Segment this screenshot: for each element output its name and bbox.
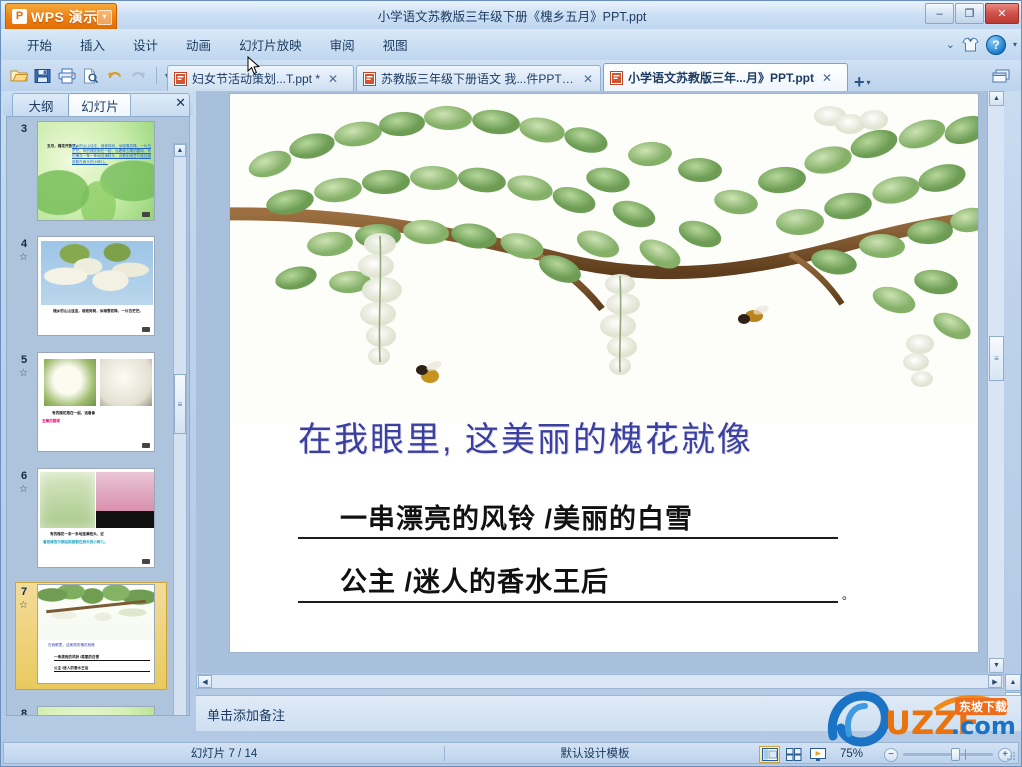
slide-trailing-mark: 。	[842, 586, 854, 603]
slide-number: 5	[21, 354, 27, 366]
tab-outline[interactable]: 大纲	[12, 93, 70, 117]
toolbar-divider	[156, 67, 157, 84]
animation-star-icon: ☆	[19, 252, 28, 263]
thumb-text: 有的槐花一条一条地挂满枝头，近	[50, 532, 148, 537]
current-slide[interactable]: 在我眼里, 这美丽的槐花就像 一串漂亮的风铃 /美丽的白雪 公主 /迷人的香水王…	[229, 93, 979, 653]
ppt-file-icon	[610, 71, 623, 85]
animation-star-icon: ☆	[19, 368, 28, 379]
previous-slide-button[interactable]: ▲	[1005, 674, 1021, 691]
slide-number: 6	[21, 470, 27, 482]
menu-bar: 开始 插入 设计 动画 幻灯片放映 审阅 视图 ⌄ ? ▾	[1, 29, 1022, 60]
slide-sorter-icon[interactable]	[783, 746, 804, 763]
list-item[interactable]: 4 ☆ 槐乡的山山洼洼，坡坡岗岗，似瑞雪初降，一片白茫茫。	[7, 232, 175, 347]
slide-body-line-2[interactable]: 公主 /迷人的香水王后	[340, 560, 609, 599]
animation-indicator-icon	[142, 559, 150, 564]
slide-thumbnail[interactable]: 有的槐花抱在一起，远看像 玉雕的圆球	[37, 352, 155, 452]
list-item[interactable]: 8 ☆ "嗡嗡嗡——"，小蜜蜂飞来了，采走了香的粉，酿出了甜的蜜。	[7, 702, 175, 716]
animation-indicator-icon	[142, 212, 150, 217]
menu-item-start[interactable]: 开始	[13, 31, 66, 58]
thumbnails-scroll-content: 3 五月，槐花开放了。 槐乡的山山洼洼，坡坡岗岗，似瑞雪初降，一片白茫茫。有的槐…	[7, 117, 175, 715]
slide-number: 7	[21, 586, 27, 598]
doc-tab-3-close-icon[interactable]: ✕	[819, 71, 832, 85]
scrollbar-thumb[interactable]: ≡	[989, 336, 1004, 381]
slide-thumbnail[interactable]: 五月，槐花开放了。 槐乡的山山洼洼，坡坡岗岗，似瑞雪初降，一片白茫茫。有的槐花抱…	[37, 121, 155, 221]
animation-star-icon: ☆	[19, 484, 28, 495]
animation-indicator-icon	[142, 443, 150, 448]
notes-pane[interactable]: 单击添加备注	[196, 695, 1022, 731]
open-document-tabs: 妇女节活动策划...T.ppt * ✕ 苏教版三年级下册语文 我...件PPT_…	[167, 62, 871, 91]
restore-window-icon[interactable]	[992, 68, 1014, 84]
slideshow-icon[interactable]	[807, 746, 828, 763]
redo-icon[interactable]	[129, 66, 148, 85]
doc-tab-2-close-icon[interactable]: ✕	[580, 72, 593, 86]
open-icon[interactable]	[9, 66, 28, 85]
list-item[interactable]: 7 ☆ 在我眼里，这美丽的槐花就像 一串漂亮的风铃 /美丽的白雪 公主 /迷人的…	[7, 580, 175, 695]
slide-number: 8	[21, 708, 27, 716]
thumb-text: 槐乡的山山洼洼，坡坡岗岗，似瑞雪初降，一片白茫茫。	[48, 309, 148, 314]
zoom-out-button[interactable]: −	[884, 748, 898, 762]
slide-number: 4	[21, 238, 27, 250]
slides-outline-panel: 大纲 幻灯片 ✕ 3 五月，槐花开放了。 槐乡的山山洼洼，坡坡岗岗，似瑞雪初降，…	[3, 91, 193, 736]
wps-presentation-window: P WPS 演示 ▾ 小学语文苏教版三年级下册《槐乡五月》PPT.ppt – ❐…	[0, 0, 1022, 767]
slide-background-image	[230, 94, 978, 424]
title-bar: P WPS 演示 ▾ 小学语文苏教版三年级下册《槐乡五月》PPT.ppt – ❐…	[1, 1, 1022, 29]
zoom-slider-track[interactable]	[903, 753, 993, 756]
ppt-file-icon	[363, 72, 376, 86]
slide-thumbnail-selected[interactable]: 在我眼里，这美丽的槐花就像 一串漂亮的风铃 /美丽的白雪 公主 /迷人的香水王后	[37, 584, 155, 684]
status-bar: 幻灯片 7 / 14 默认设计模板	[3, 742, 1019, 764]
mouse-cursor-icon	[247, 56, 260, 75]
thumb-text: 在我眼里，这美丽的槐花就像	[48, 643, 150, 648]
doc-tab-3-label: 小学语文苏教版三年...月》PPT.ppt	[628, 69, 814, 86]
minimize-button[interactable]: –	[925, 3, 954, 24]
normal-view-icon[interactable]	[759, 746, 780, 763]
thumb-text: 槐乡的山山洼洼，坡坡岗岗，似瑞雪初降，一片白茫茫。有的槐花抱在一起，远看像玉雕的…	[72, 144, 152, 165]
scroll-left-icon[interactable]: ◀	[198, 675, 212, 688]
list-item[interactable]: 3 五月，槐花开放了。 槐乡的山山洼洼，坡坡岗岗，似瑞雪初降，一片白茫茫。有的槐…	[7, 117, 175, 232]
quick-access-toolbar: ▾	[9, 63, 169, 88]
scroll-up-icon[interactable]: ▲	[989, 91, 1004, 106]
document-tab-bar: ▾ 妇女节活动策划...T.ppt * ✕	[1, 60, 1022, 91]
zoom-slider-handle[interactable]	[951, 748, 960, 761]
main-editing-area: 在我眼里, 这美丽的槐花就像 一串漂亮的风铃 /美丽的白雪 公主 /迷人的香水王…	[196, 91, 1022, 736]
thumb-text: 一串漂亮的风铃 /美丽的白雪	[54, 655, 150, 661]
print-icon[interactable]	[57, 66, 76, 85]
scroll-down-icon[interactable]: ▼	[989, 658, 1004, 673]
list-item[interactable]: 6 ☆ 有的槐花一条一条地挂满枝头，近 看如维吾尔族姑娘披散在肩头的小辫儿。	[7, 464, 175, 579]
acacia-branch-illustration	[230, 94, 978, 424]
panel-tab-strip: 大纲 幻灯片 ✕	[3, 91, 193, 116]
window-controls: – ❐ ✕	[925, 3, 1019, 24]
menu-item-insert[interactable]: 插入	[66, 31, 119, 58]
thumb-text: 看如维吾尔族姑娘披散在肩头的小辫儿。	[43, 540, 151, 545]
print-preview-icon[interactable]	[81, 66, 100, 85]
notes-placeholder: 单击添加备注	[207, 705, 285, 724]
slide-thumbnail[interactable]: "嗡嗡嗡——"，小蜜蜂飞来了，采走了香的粉，酿出了甜的蜜。	[37, 706, 155, 716]
doc-tab-2-label: 苏教版三年级下册语文 我...件PPT_3.ppt *	[381, 70, 575, 87]
menu-item-slideshow[interactable]: 幻灯片放映	[225, 31, 316, 58]
thumb-text: 公主 /迷人的香水王后	[54, 666, 150, 672]
maximize-button[interactable]: ❐	[955, 3, 984, 24]
shirt-skin-icon[interactable]	[962, 37, 979, 52]
doc-tab-2[interactable]: 苏教版三年级下册语文 我...件PPT_3.ppt * ✕	[356, 65, 601, 91]
thumb-text: 玉雕的圆球	[42, 419, 102, 424]
menu-item-view[interactable]: 视图	[369, 31, 422, 58]
underline-rule-1	[298, 537, 838, 539]
close-button[interactable]: ✕	[985, 3, 1019, 24]
undo-icon[interactable]	[105, 66, 124, 85]
scroll-up-icon[interactable]: ▲	[174, 144, 186, 157]
resize-grip-icon[interactable]	[1006, 751, 1016, 761]
animation-star-icon: ☆	[19, 600, 28, 611]
slide-counter: 幻灯片 7 / 14	[4, 745, 444, 761]
zoom-slider-control[interactable]: − +	[884, 747, 1012, 762]
save-icon[interactable]	[33, 66, 52, 85]
slide-thumbnail[interactable]: 有的槐花一条一条地挂满枝头，近 看如维吾尔族姑娘披散在肩头的小辫儿。	[37, 468, 155, 568]
slide-number: 3	[21, 123, 27, 135]
list-item[interactable]: 5 ☆ 有的槐花抱在一起，远看像 玉雕的圆球	[7, 348, 175, 463]
doc-tab-1[interactable]: 妇女节活动策划...T.ppt * ✕	[167, 65, 354, 91]
document-title: 小学语文苏教版三年级下册《槐乡五月》PPT.ppt	[1, 6, 1022, 25]
tab-slides[interactable]: 幻灯片	[68, 93, 132, 117]
scroll-right-icon[interactable]: ▶	[988, 675, 1002, 688]
menu-right-tools: ⌄ ? ▾	[946, 29, 1017, 60]
slide-title-text[interactable]: 在我眼里, 这美丽的槐花就像	[298, 412, 753, 461]
menu-item-review[interactable]: 审阅	[316, 31, 369, 58]
ppt-file-icon	[174, 72, 187, 86]
doc-tab-3[interactable]: 小学语文苏教版三年...月》PPT.ppt ✕	[603, 63, 848, 91]
chevron-down-icon[interactable]: ⌄	[946, 38, 955, 51]
menu-item-design[interactable]: 设计	[119, 31, 172, 58]
slide-thumbnail[interactable]: 槐乡的山山洼洼，坡坡岗岗，似瑞雪初降，一片白茫茫。	[37, 236, 155, 336]
new-tab-button[interactable]: +	[854, 75, 865, 89]
animation-indicator-icon	[142, 327, 150, 332]
doc-tab-1-close-icon[interactable]: ✕	[325, 72, 338, 86]
thumbnail-scrollbar[interactable]: ▲ ≡ ▼	[173, 143, 187, 716]
zoom-percentage: 75%	[840, 748, 863, 760]
design-template-label: 默认设计模板	[445, 745, 745, 761]
scrollbar-thumb[interactable]: ≡	[174, 374, 186, 434]
slide-thumbnail-list[interactable]: 3 五月，槐花开放了。 槐乡的山山洼洼，坡坡岗岗，似瑞雪初降，一片白茫茫。有的槐…	[6, 116, 190, 716]
underline-rule-2	[298, 601, 838, 603]
slide-canvas-area[interactable]: 在我眼里, 这美丽的槐花就像 一串漂亮的风铃 /美丽的白雪 公主 /迷人的香水王…	[196, 91, 1004, 673]
canvas-vertical-scrollbar[interactable]: ▲ ≡ ▼	[987, 91, 1004, 673]
menu-item-animation[interactable]: 动画	[172, 31, 225, 58]
thumb-text: 有的槐花抱在一起，远看像	[52, 411, 146, 416]
new-tab-dropdown-icon[interactable]: ▾	[867, 78, 871, 87]
menu-items: 开始 插入 设计 动画 幻灯片放映 审阅 视图	[13, 29, 422, 60]
zoom-slider-tick	[965, 749, 966, 760]
view-mode-buttons	[759, 746, 828, 763]
new-tab-group: + ▾	[854, 75, 871, 91]
slide-body-line-1[interactable]: 一串漂亮的风铃 /美丽的白雪	[340, 497, 693, 536]
overflow-chevron-icon[interactable]: ▾	[1013, 40, 1017, 49]
panel-close-icon[interactable]: ✕	[175, 95, 186, 111]
canvas-horizontal-scrollbar[interactable]: ◀ ▶	[196, 674, 1004, 689]
help-icon[interactable]: ?	[986, 35, 1006, 55]
